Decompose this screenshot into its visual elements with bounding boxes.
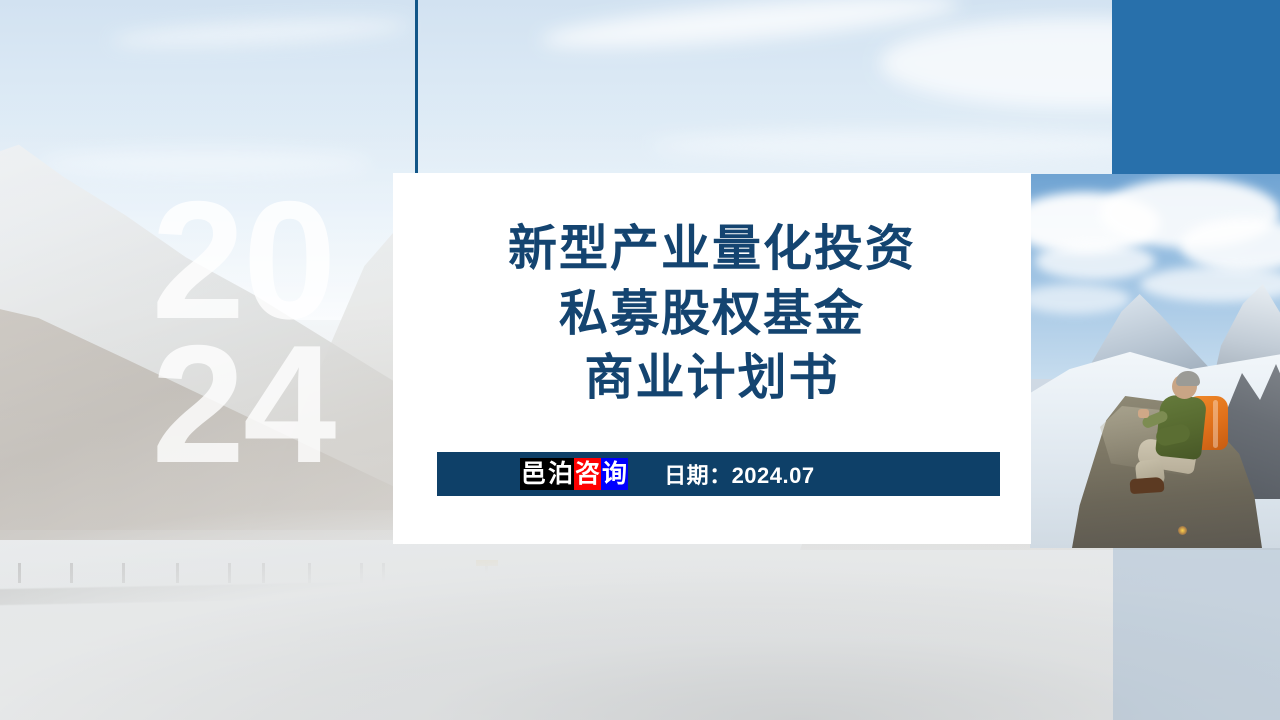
hiking-boot-icon bbox=[1130, 477, 1165, 494]
accent-panel-bottom-right bbox=[1113, 548, 1280, 720]
lens-flare bbox=[1178, 526, 1187, 535]
brand-char-3: 咨 bbox=[574, 458, 601, 490]
brand-char-1: 邑 bbox=[520, 458, 547, 490]
date-label: 日期：2024.07 bbox=[664, 458, 815, 490]
hiker-hair bbox=[1176, 371, 1200, 386]
year-watermark: 20 24 bbox=[138, 188, 348, 477]
footer-badge-bar: 邑 泊 咨 询 日期：2024.07 bbox=[437, 452, 1000, 496]
title-line-2: 私募股权基金 bbox=[393, 282, 1031, 347]
cover-slide: 20 24 新型产业量化投资 私募股权基金 商业计划书 bbox=[0, 0, 1280, 720]
title-line-1: 新型产业量化投资 bbox=[393, 217, 1031, 282]
cloud bbox=[1035, 242, 1155, 280]
brand-char-4: 询 bbox=[601, 458, 628, 490]
brand-char-2: 泊 bbox=[547, 458, 574, 490]
brand-logo: 邑 泊 咨 询 bbox=[520, 458, 628, 490]
title-line-3: 商业计划书 bbox=[393, 346, 1031, 411]
accent-rectangle-top-right bbox=[1112, 0, 1280, 176]
title-block: 新型产业量化投资 私募股权基金 商业计划书 bbox=[393, 217, 1031, 411]
backpack-strap bbox=[1213, 400, 1218, 448]
hiker-hand bbox=[1138, 409, 1149, 418]
title-card: 新型产业量化投资 私募股权基金 商业计划书 邑 泊 咨 询 日期：2024.07 bbox=[393, 173, 1031, 544]
year-line-bottom: 24 bbox=[138, 332, 348, 476]
hiker-photo bbox=[1030, 174, 1280, 548]
